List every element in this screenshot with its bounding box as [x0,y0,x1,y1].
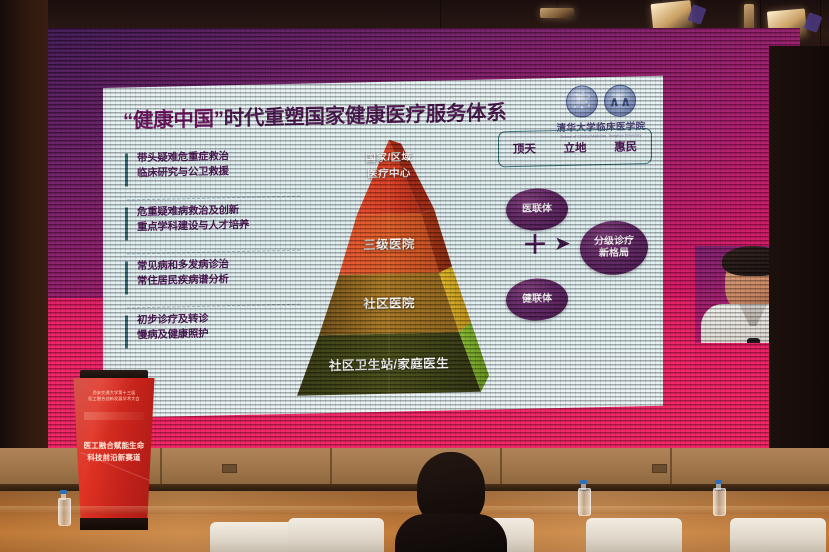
left-annotation-column: 带头疑难危重症救治 临床研究与公卫救援 危重疑难病救治及创新 重点学科建设与人才… [125,148,300,362]
podium-emblem [84,412,144,420]
audience-member [395,452,507,552]
banner-text: 诊治、康复、慢病管理、高龄照护、临终关怀为一体全链条综合健康医疗体系 [189,76,556,80]
accent-bar [125,261,128,294]
wall-outlet [652,464,667,473]
people-circle-icon: ∧∧ [604,84,636,117]
wall-outlet [222,464,237,473]
right-concept-panel: 顶天 立地 惠民 医联体 ＋ 健联体 ➤ 分级诊疗 新格局 [498,128,650,381]
constellation-circle-icon [566,85,598,118]
annotation-line-2: 常住居民疾病谱分析 [137,271,300,290]
plus-icon: ＋ [522,234,544,256]
annotation-line-2: 临床研究与公卫救援 [137,163,300,182]
principle-label: 惠民 [614,138,637,155]
slide-title-rest: 时代重塑国家健康医疗服务体系 [224,101,507,130]
annotation-line-2: 慢病及健康照护 [137,325,300,344]
oval-health-alliance: 健联体 [506,278,568,321]
key-principles-box: 顶天 立地 惠民 [498,128,652,167]
divider [127,304,300,309]
divider [127,196,300,201]
podium-base [80,518,148,530]
annotation-block: 危重疑难病救治及创新 重点学科建设与人才培养 [125,202,300,248]
accent-bar [125,153,128,186]
chair [288,518,384,552]
annotation-block: 带头疑难危重症救治 临床研究与公卫救援 [125,148,300,194]
oval-medical-alliance: 医联体 [506,188,568,231]
result-line-1: 分级诊疗 [594,235,634,248]
divider [127,250,300,255]
annotation-block: 初步诊疗及转诊 慢病及健康照护 [125,310,300,356]
accent-bar [125,207,128,240]
healthcare-pyramid: 国家/区域 医疗中心 三级医院 社区医院 社区卫生站/家庭医生 [289,136,489,402]
oval-tiered-diagnosis: 分级诊疗 新格局 [580,220,648,275]
annotation-line-2: 重点学科建设与人才培养 [137,217,300,236]
arrow-right-icon: ➤ [554,236,576,252]
left-wall-pillar [0,0,48,470]
audience-shoulders [395,514,507,552]
stage-light [540,8,574,18]
podium-slogan-line-1: 医工融合赋能生命 [70,440,158,451]
chair [586,518,682,552]
result-line-2: 新格局 [599,248,629,261]
slide-title-quoted: “健康中国” [123,107,224,132]
right-wall [769,46,829,466]
principle-label: 顶天 [513,141,536,158]
presentation-slide: “健康中国”时代重塑国家健康医疗服务体系 [103,76,663,418]
principle-label: 立地 [563,139,586,156]
annotation-block: 常见病和多发病诊治 常住居民疾病谱分析 [125,256,300,302]
chair [730,518,826,552]
accent-bar [125,315,128,348]
podium-top [80,370,148,379]
podium-event-subtitle: 西安交通大学第十三届 医工融合创新发展学术大会 [70,390,158,403]
conference-hall-photo: “健康中国”时代重塑国家健康医疗服务体系 [0,0,829,552]
